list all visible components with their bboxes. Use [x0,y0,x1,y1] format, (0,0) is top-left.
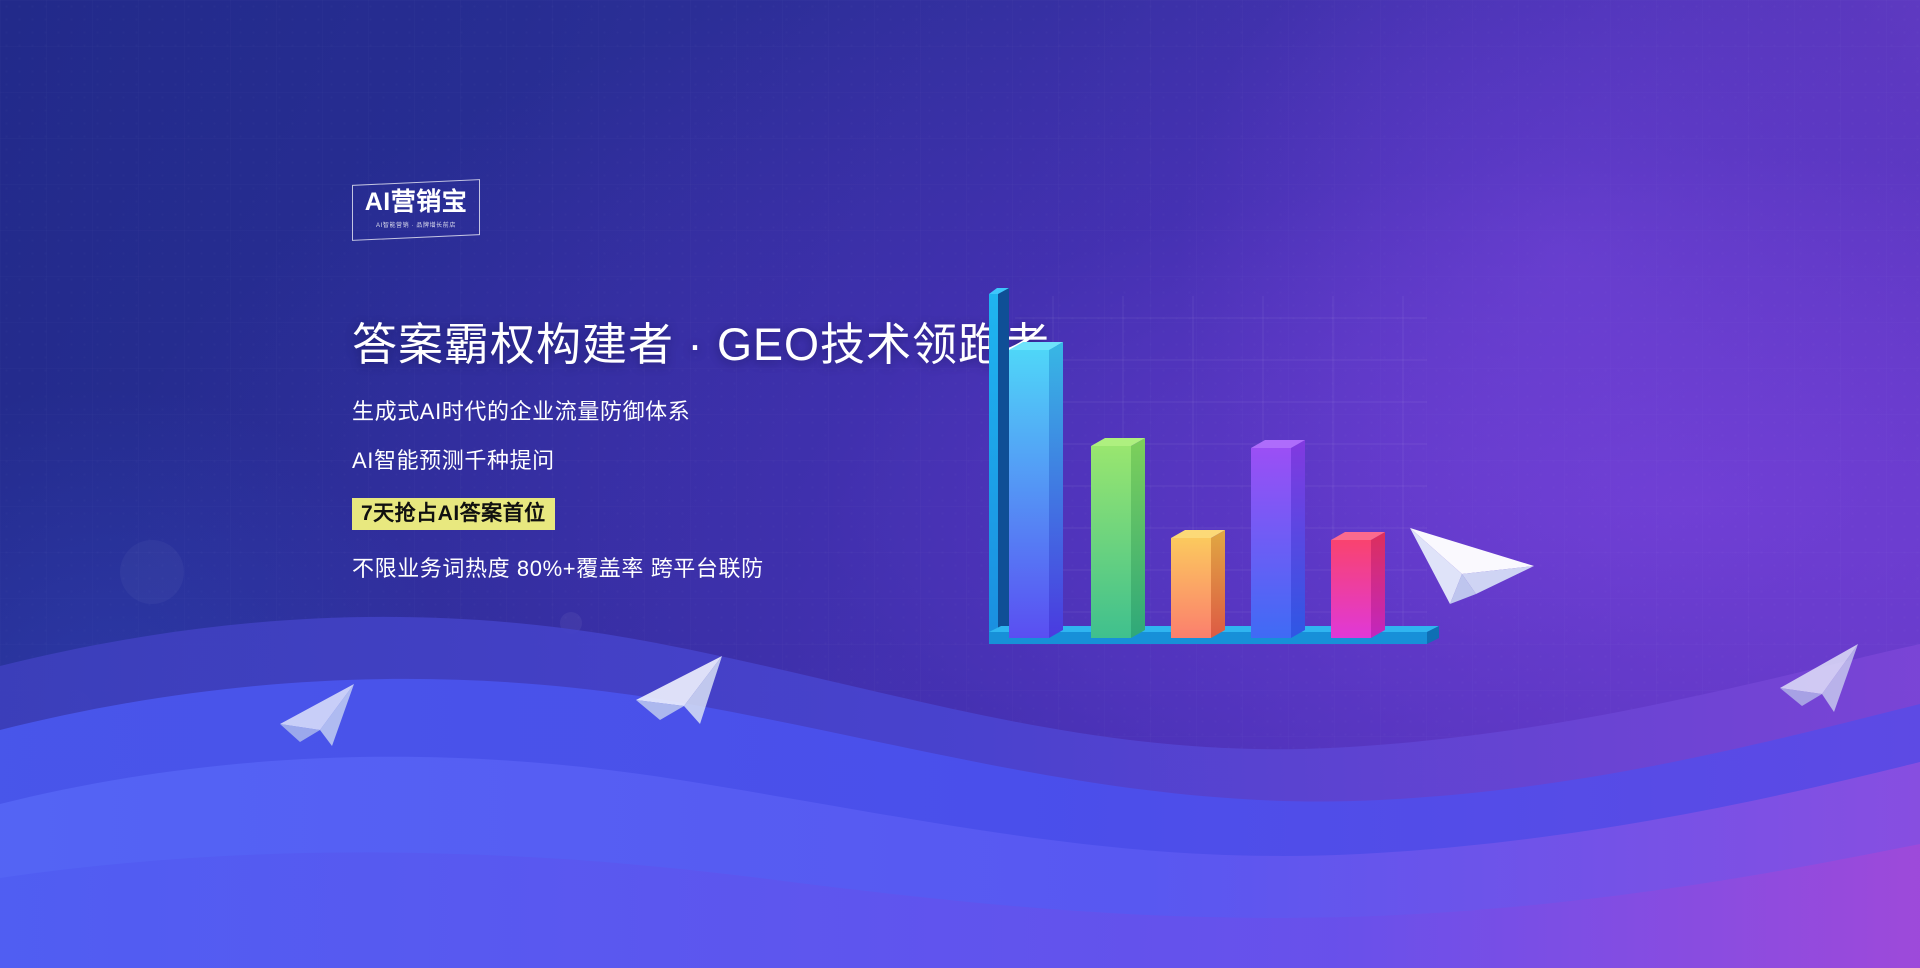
circle-decoration [120,540,184,604]
brand-logo[interactable]: AI营销宝 AI智能营销 · 品牌增长前店 [352,182,480,238]
hero-highlight-row: 7天抢占AI答案首位 [352,498,992,530]
hero-highlight-badge: 7天抢占AI答案首位 [352,498,555,530]
chart-bar [1171,530,1225,638]
hero-copy: 答案霸权构建者 · GEO技术领跑者 生成式AI时代的企业流量防御体系 AI智能… [352,318,992,580]
hero-subline-1: 生成式AI时代的企业流量防御体系 [352,401,992,423]
paper-plane-icon [1772,640,1868,726]
logo-tagline: AI智能营销 · 品牌增长前店 [352,220,480,229]
hero-subline-3: 不限业务词热度 80%+覆盖率 跨平台联防 [352,558,992,580]
chart-y-axis [989,288,1009,638]
circle-decoration [560,612,582,634]
paper-plane-icon [272,678,364,760]
chart-bar [1331,532,1385,638]
page-title: 答案霸权构建者 · GEO技术领跑者 [352,318,992,371]
chart-bar [1009,342,1063,638]
hero-banner: AI营销宝 AI智能营销 · 品牌增长前店 答案霸权构建者 · GEO技术领跑者… [0,0,1920,968]
paper-plane-icon [626,650,736,746]
bar-chart-illustration [975,288,1445,676]
hero-subline-2: AI智能预测千种提问 [352,450,992,472]
chart-bar [1251,440,1305,638]
chart-bar [1091,438,1145,638]
logo-wordmark: AI营销宝 [352,190,480,215]
circle-decoration [56,690,92,726]
